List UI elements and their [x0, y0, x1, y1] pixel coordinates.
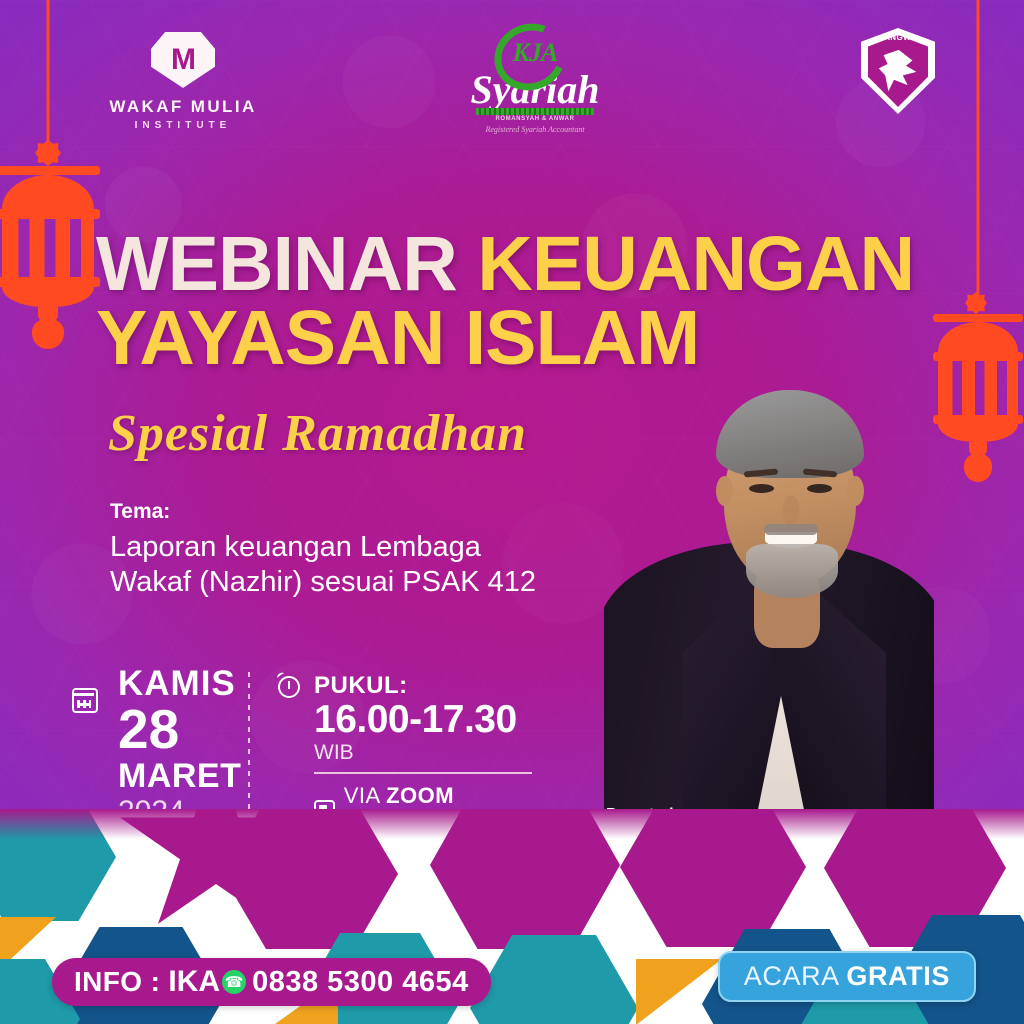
eagle-icon	[878, 49, 918, 93]
logo-pejuang-wakaf: PEJUANGWAKAF	[858, 28, 938, 114]
time-divider-top	[314, 772, 532, 774]
shield-inner	[868, 35, 928, 107]
platform-prefix: VIA	[344, 783, 386, 808]
logo-subname-institute: INSTITUTE	[135, 120, 232, 131]
portrait-ear-right	[847, 476, 864, 506]
speaker-portrait	[604, 372, 934, 842]
time-timezone: WIB	[314, 741, 528, 765]
date-block: KAMIS 28 MARET 2024	[72, 666, 272, 830]
portrait-moustache	[764, 524, 818, 535]
tema-label: Tema:	[110, 500, 170, 524]
logo-subname-romansyah-anwar: ROMANSYAH & ANWAR	[495, 116, 574, 122]
portrait-hair	[716, 390, 864, 478]
badge-strong: GRATIS	[846, 961, 950, 991]
info-phone-number[interactable]: 0838 5300 4654	[252, 966, 469, 999]
info-contact-bar[interactable]: INFO : IKA ☎ 0838 5300 4654	[52, 958, 491, 1006]
logo-kja-syariah: KJA Syariah ROMANSYAH & ANWAR Registered…	[460, 28, 610, 134]
pejuang-wakaf-shield-eagle-icon: PEJUANGWAKAF	[861, 28, 935, 114]
info-label: INFO :	[74, 966, 160, 998]
logo-mark-letter: M	[171, 45, 195, 75]
whatsapp-icon[interactable]: ☎	[222, 970, 246, 994]
lantern-left	[2, 0, 94, 310]
portrait-nose	[783, 496, 799, 526]
portrait-beard	[746, 544, 838, 598]
logo-name-wakaf-mulia: WAKAF MULIA	[109, 97, 256, 117]
headline-line-1: WEBINAR KEUANGAN	[96, 228, 914, 302]
info-contact-name: IKA	[168, 965, 220, 999]
tema-line-2: Wakaf (Nazhir) sesuai PSAK 412	[110, 565, 536, 600]
portrait-ear-left	[716, 476, 733, 506]
portrait-eye-left	[749, 484, 774, 493]
headline-script-subtitle: Spesial Ramadhan	[108, 404, 527, 463]
acara-gratis-badge: ACARA GRATIS	[718, 951, 976, 1002]
alarm-clock-icon	[278, 676, 300, 698]
hexagon-m-logo-icon: M	[151, 32, 215, 88]
calendar-icon	[72, 688, 98, 713]
headline: WEBINAR KEUANGAN YAYASAN ISLAM	[96, 228, 914, 376]
logo-arc-text: PEJUANGWAKAF	[861, 33, 935, 42]
badge-prefix: ACARA	[744, 961, 847, 991]
logo-mark-kja: KJA	[513, 38, 558, 68]
time-value: 16.00-17.30	[314, 700, 528, 741]
tema-line-1: Laporan keuangan Lembaga	[110, 530, 536, 565]
logo-wakaf-mulia-institute: M WAKAF MULIA INSTITUTE	[108, 32, 258, 131]
logo-tagline: Registered Syariah Accountant	[485, 125, 584, 134]
webinar-poster: M WAKAF MULIA INSTITUTE KJA Syariah ROMA…	[0, 0, 1024, 1024]
logo-divider-rule	[476, 108, 594, 115]
vertical-dotted-divider	[248, 672, 250, 832]
headline-line-2: YAYASAN ISLAM	[96, 302, 914, 376]
tema-text: Laporan keuangan Lembaga Wakaf (Nazhir) …	[110, 530, 536, 601]
time-label: PUKUL:	[314, 672, 528, 700]
portrait-eye-right	[807, 484, 832, 493]
kja-syariah-logo-icon: KJA	[492, 28, 578, 78]
lantern-right	[938, 0, 1018, 500]
